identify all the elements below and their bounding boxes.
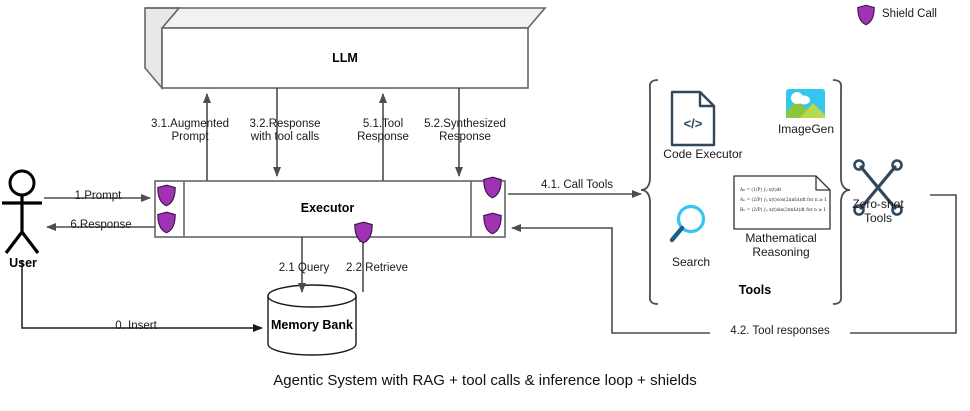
- shield-icon-legend: [858, 5, 875, 25]
- tool-label-imagegen: ImageGen: [766, 122, 846, 136]
- svg-text:</>: </>: [684, 116, 703, 131]
- user-label: User: [0, 256, 46, 270]
- tool-label-math-reasoning: Mathematical Reasoning: [729, 231, 833, 259]
- svg-text:Bₙ = (2/P) ∫ₚ x(t)sin(2πnf₀t)d: Bₙ = (2/P) ∫ₚ x(t)sin(2πnf₀t)dt for n ≥ …: [740, 207, 826, 213]
- formula-document-icon: A₀ = (1/P) ∫ₚ x(t)dt Aₙ = (2/P) ∫ₚ x(t)c…: [734, 176, 830, 229]
- edge-insert: [22, 260, 262, 328]
- edge-label-augmented-prompt: 3.1.Augmented Prompt: [142, 118, 238, 144]
- edge-label-insert: 0. Insert: [66, 320, 206, 333]
- memory-bank-label: Memory Bank: [268, 318, 356, 332]
- shield-icon-memory: [355, 222, 372, 243]
- tool-label-code-executor: Code Executor: [648, 147, 758, 161]
- edge-label-response: 6.Response: [52, 219, 150, 232]
- edge-label-retrieve: 2.2 Retrieve: [330, 262, 424, 275]
- svg-text:Aₙ = (2/P) ∫ₚ x(t)cos(2πnf₀t)d: Aₙ = (2/P) ∫ₚ x(t)cos(2πnf₀t)dt for n ≥ …: [739, 197, 827, 203]
- executor-label: Executor: [184, 201, 471, 215]
- tool-label-search: Search: [658, 255, 724, 269]
- magnifier-icon: [672, 207, 704, 241]
- edge-label-tool-responses: 4.2. Tool responses: [710, 325, 850, 338]
- tools-group-label: Tools: [710, 283, 800, 297]
- legend-shield-label: Shield Call: [882, 8, 937, 20]
- edge-label-call-tools: 4.1. Call Tools: [525, 179, 629, 192]
- diagram-caption: Agentic System with RAG + tool calls & i…: [0, 372, 970, 389]
- llm-label: LLM: [162, 51, 528, 65]
- llm-node[interactable]: [145, 8, 545, 88]
- image-icon: [786, 89, 825, 118]
- diagram-canvas: </> A₀ = (1/P) ∫ₚ x(t)dt Aₙ = (2/P) ∫ₚ x…: [0, 0, 970, 411]
- user-actor[interactable]: [2, 171, 42, 253]
- edge-label-prompt: 1.Prompt: [52, 190, 144, 203]
- svg-text:A₀ = (1/P) ∫ₚ x(t)dt: A₀ = (1/P) ∫ₚ x(t)dt: [739, 187, 781, 193]
- edge-label-response-with-tool-calls: 3.2.Response with tool calls: [233, 118, 337, 144]
- tool-label-zero-shot-tools: Zero-shot Tools: [843, 197, 913, 225]
- code-document-icon: </>: [672, 92, 714, 145]
- edge-label-synthesized-response: 5.2.Synthesized Response: [412, 118, 518, 144]
